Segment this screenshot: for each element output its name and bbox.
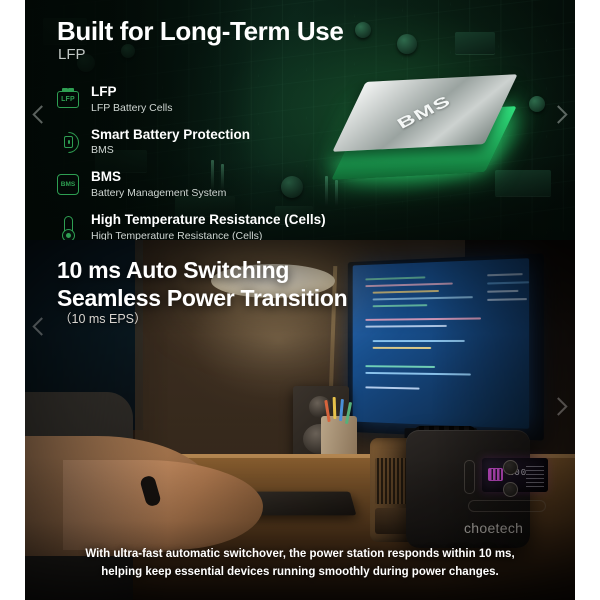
section-title-line1: 10 ms Auto Switching xyxy=(57,256,347,284)
thermometer-bulb xyxy=(62,229,75,240)
auto-switching-panel: 100 choetech 10 ms Auto Switching Seamle… xyxy=(25,240,575,600)
feature-subtitle: High Temperature Resistance (Cells) xyxy=(91,229,326,240)
feature-title: LFP xyxy=(91,84,173,100)
lfp-feature-panel: BMS Built for Long-Term Use LFP LFP LFP … xyxy=(25,0,575,240)
chevron-left-icon[interactable] xyxy=(32,105,50,123)
protection-lock xyxy=(64,136,73,148)
bms-icon-body: BMS xyxy=(57,174,79,195)
page-subtitle: LFP xyxy=(58,46,86,63)
feature-subtitle: Battery Management System xyxy=(91,186,226,200)
bottom-caption: With ultra-fast automatic switchover, th… xyxy=(63,546,537,582)
section-title: 10 ms Auto Switching Seamless Power Tran… xyxy=(57,256,347,312)
bottom-panel-content: 10 ms Auto Switching Seamless Power Tran… xyxy=(25,240,575,600)
feature-list: LFP LFP LFP Battery Cells Smart Battery xyxy=(55,84,375,240)
caption-line1: With ultra-fast automatic switchover, th… xyxy=(63,546,537,564)
lfp-icon-body: LFP xyxy=(57,91,79,108)
feature-subtitle: BMS xyxy=(91,143,250,157)
feature-text: BMS Battery Management System xyxy=(91,169,226,200)
feature-title: BMS xyxy=(91,169,226,185)
feature-title: Smart Battery Protection xyxy=(91,127,250,143)
list-item: BMS BMS Battery Management System xyxy=(55,169,375,200)
feature-title: High Temperature Resistance (Cells) xyxy=(91,212,326,228)
thermometer-icon xyxy=(55,214,81,240)
section-subtitle: （10 ms EPS） xyxy=(59,308,147,327)
feature-text: Smart Battery Protection BMS xyxy=(91,127,250,158)
chevron-right-icon[interactable] xyxy=(549,105,567,123)
caption-line2: helping keep essential devices running s… xyxy=(63,564,537,582)
feature-subtitle: LFP Battery Cells xyxy=(91,101,173,115)
bms-chip-icon: BMS xyxy=(55,171,81,197)
chevron-right-icon[interactable] xyxy=(549,397,567,415)
lfp-icon-text: LFP xyxy=(61,96,75,103)
top-panel-content: Built for Long-Term Use LFP LFP LFP LFP … xyxy=(25,0,575,240)
page-title: Built for Long-Term Use xyxy=(57,16,343,47)
list-item: High Temperature Resistance (Cells) High… xyxy=(55,212,375,240)
chevron-left-icon[interactable] xyxy=(32,317,50,335)
battery-protection-icon xyxy=(55,129,81,155)
lfp-battery-icon: LFP xyxy=(55,86,81,112)
feature-text: High Temperature Resistance (Cells) High… xyxy=(91,212,326,240)
list-item: LFP LFP LFP Battery Cells xyxy=(55,84,375,115)
product-feature-image: BMS Built for Long-Term Use LFP LFP LFP … xyxy=(0,0,600,600)
feature-text: LFP LFP Battery Cells xyxy=(91,84,173,115)
list-item: Smart Battery Protection BMS xyxy=(55,127,375,158)
bms-icon-text: BMS xyxy=(61,181,75,188)
